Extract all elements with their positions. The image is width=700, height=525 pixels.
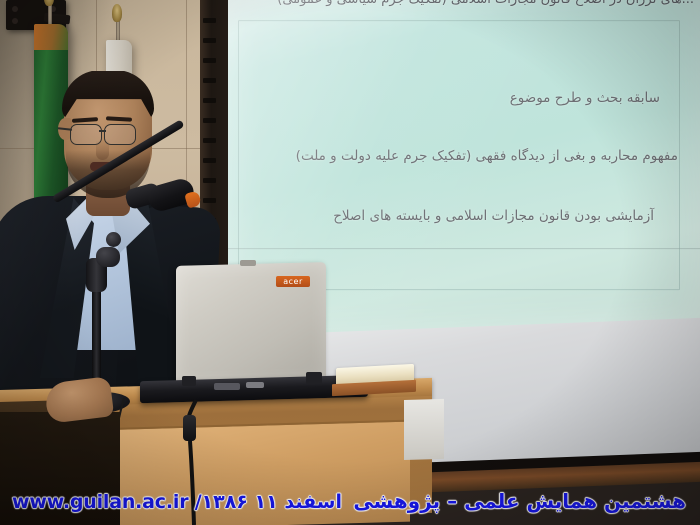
slide-bullet-1: سابقه بحث و طرح موضوع <box>510 90 660 106</box>
laptop-hinge-left <box>182 376 196 386</box>
slide-bullet-2: مفهوم محاربه و بغی از دیدگاه فقهی (تفکیک… <box>296 148 678 164</box>
laptop-port <box>214 383 240 390</box>
acer-logo: acer <box>276 276 310 287</box>
laptop-lid-latch <box>240 260 256 266</box>
microphone-adjust-knob <box>106 232 121 247</box>
podium-right-object <box>404 399 444 460</box>
laptop-port-secondary <box>246 382 264 388</box>
glasses-bridge <box>99 130 106 132</box>
foreground-shadow <box>0 412 120 525</box>
screen-seam <box>228 248 700 249</box>
conference-photograph: ...های لرزان در اصلاح قانون مجازات اسلام… <box>0 0 700 525</box>
speaker-nose <box>96 140 109 160</box>
laptop-hinge-right <box>306 372 322 384</box>
cable-ferrite-bead <box>183 415 196 441</box>
slide-bullet-3: آزمایشی بودن قانون مجازات اسلامی و بایست… <box>333 208 654 224</box>
microphone-boom-joint <box>96 247 120 267</box>
slide-title: ...های لرزان در اصلاح قانون مجازات اسلام… <box>277 0 694 7</box>
podium-front-panel <box>108 420 410 525</box>
